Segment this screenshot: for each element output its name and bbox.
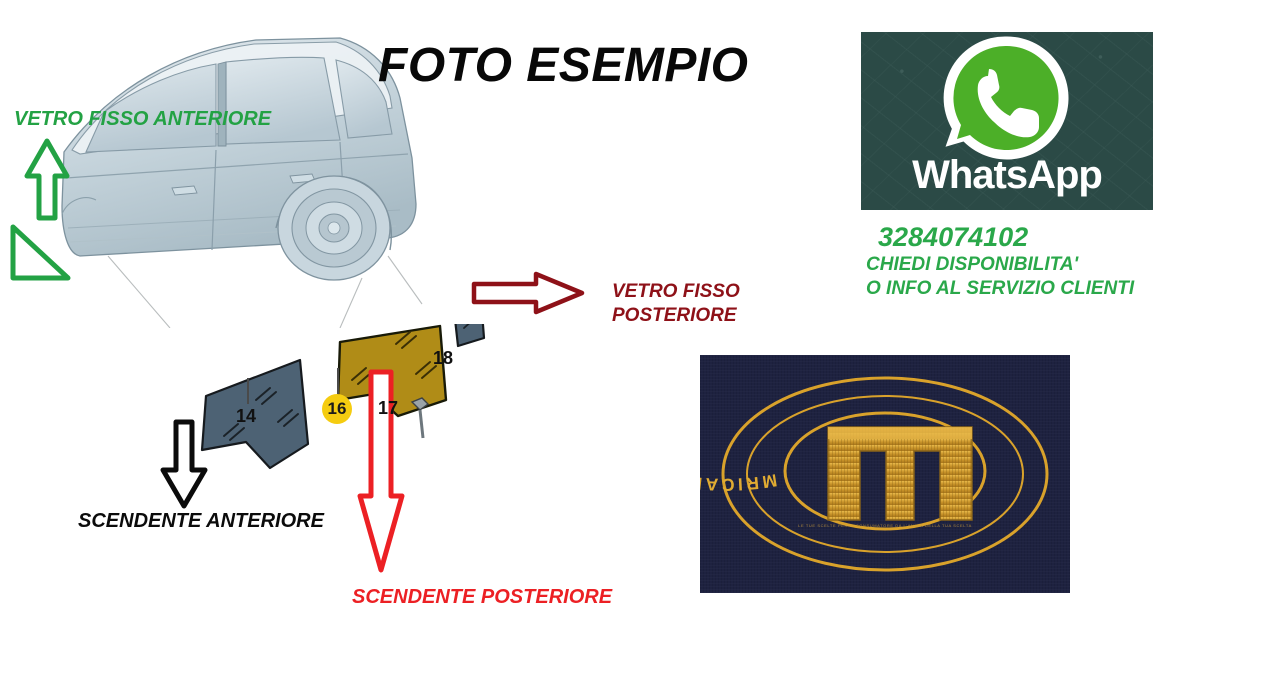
label-scendente-posteriore: SCENDENTE POSTERIORE: [352, 586, 612, 609]
label-vetro-fisso-anteriore: VETRO FISSO ANTERIORE: [14, 108, 271, 131]
shop-logo-mark: MRICAMBISTORE SERVICE DI RUSSO MARCO: [700, 355, 1070, 593]
page-title: FOTO ESEMPIO: [378, 38, 749, 93]
part-18-glass: [452, 324, 484, 346]
leader-line-16: [337, 368, 339, 394]
contact-line-availability: CHIEDI DISPONIBILITA': [866, 253, 1196, 277]
green-triangle-marker-icon: [8, 222, 74, 289]
part-number-14: 14: [236, 406, 256, 427]
down-arrow-black-icon: [158, 418, 210, 515]
up-arrow-green-icon: [24, 138, 70, 227]
part-17-clip: [412, 398, 428, 438]
rear-wheel: [278, 176, 390, 280]
contact-line-customer-service: O INFO AL SERVIZIO CLIENTI: [866, 277, 1196, 301]
label-vetro-fisso-posteriore: VETRO FISSO POSTERIORE: [612, 280, 740, 329]
contact-block: 3284074102 CHIEDI DISPONIBILITA' O INFO …: [866, 222, 1196, 302]
part-number-17: 17: [378, 398, 398, 419]
leader-line-14: [247, 378, 249, 404]
label-scendente-anteriore: SCENDENTE ANTERIORE: [78, 510, 324, 533]
right-arrow-darkred-icon: [470, 270, 586, 321]
part-number-18: 18: [433, 348, 453, 369]
whatsapp-banner: WhatsApp: [861, 32, 1153, 210]
label-vetro-fisso-posteriore-line2: POSTERIORE: [612, 304, 740, 328]
shop-logo-monogram: [828, 427, 972, 520]
shop-logo-banner: MRICAMBISTORE SERVICE DI RUSSO MARCO LE …: [700, 355, 1070, 593]
label-vetro-fisso-posteriore-line1: VETRO FISSO: [612, 280, 740, 304]
shop-logo-ring-text: MRICAMBISTORE SERVICE DI RUSSO MARCO: [700, 355, 778, 495]
leader-lines: [108, 256, 422, 328]
shop-logo-microtext: LE TUE SCELTE PER IL CONSUMATORE DA L'AN…: [700, 523, 1070, 528]
car-body: [62, 38, 416, 280]
contact-phone-number[interactable]: 3284074102: [866, 222, 1196, 253]
whatsapp-wordmark: WhatsApp: [861, 153, 1153, 198]
part-badge-16: 16: [322, 394, 352, 424]
page-canvas: FOTO ESEMPIO VETRO FISSO ANTERIORE VETRO…: [0, 0, 1264, 678]
